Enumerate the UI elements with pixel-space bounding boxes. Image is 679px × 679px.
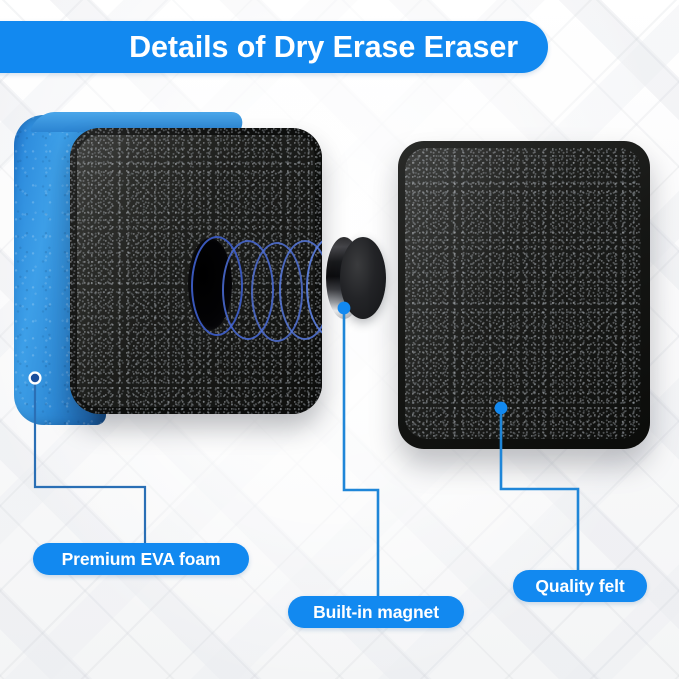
page-title: Details of Dry Erase Eraser bbox=[129, 30, 518, 65]
callout-label-built-in-magnet[interactable]: Built-in magnet bbox=[288, 596, 464, 628]
magnet-cylinder-face bbox=[340, 237, 386, 319]
built-in-magnet-disc bbox=[326, 237, 386, 319]
callout-label-quality-felt[interactable]: Quality felt bbox=[513, 570, 647, 602]
right-eraser-felt-face bbox=[405, 148, 641, 439]
left-eraser-felt-face bbox=[70, 128, 322, 414]
title-banner: Details of Dry Erase Eraser bbox=[0, 21, 548, 73]
felt-sheen bbox=[405, 148, 641, 439]
right-eraser bbox=[398, 141, 650, 449]
callout-label-text: Quality felt bbox=[535, 576, 624, 597]
callout-label-premium-eva-foam[interactable]: Premium EVA foam bbox=[33, 543, 249, 575]
callout-label-text: Built-in magnet bbox=[313, 602, 439, 623]
infographic-canvas: Details of Dry Erase Eraser bbox=[0, 0, 679, 679]
left-eraser bbox=[14, 112, 314, 434]
callout-label-text: Premium EVA foam bbox=[62, 549, 221, 570]
